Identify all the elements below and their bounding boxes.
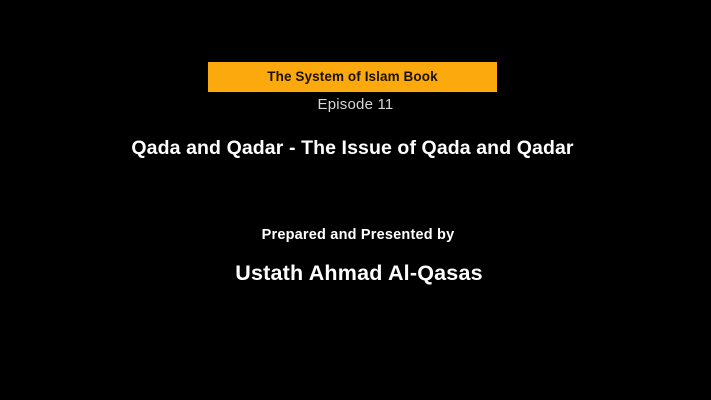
episode-line: Episode 11 bbox=[0, 96, 711, 114]
episode-label: Episode 11 bbox=[318, 96, 394, 113]
credit-role-line: Prepared and Presented by bbox=[0, 226, 711, 244]
presenter-line: Ustath Ahmad Al-Qasas bbox=[0, 260, 711, 287]
series-banner: The System of Islam Book bbox=[208, 62, 497, 92]
presenter-name: Ustath Ahmad Al-Qasas bbox=[235, 261, 483, 285]
lecture-title-line: Qada and Qadar - The Issue of Qada and Q… bbox=[0, 136, 705, 160]
series-banner-label: The System of Islam Book bbox=[267, 70, 437, 84]
title-slide: The System of Islam Book Episode 11 Qada… bbox=[0, 0, 711, 400]
credit-role-label: Prepared and Presented by bbox=[262, 227, 455, 243]
lecture-title: Qada and Qadar - The Issue of Qada and Q… bbox=[131, 137, 573, 159]
